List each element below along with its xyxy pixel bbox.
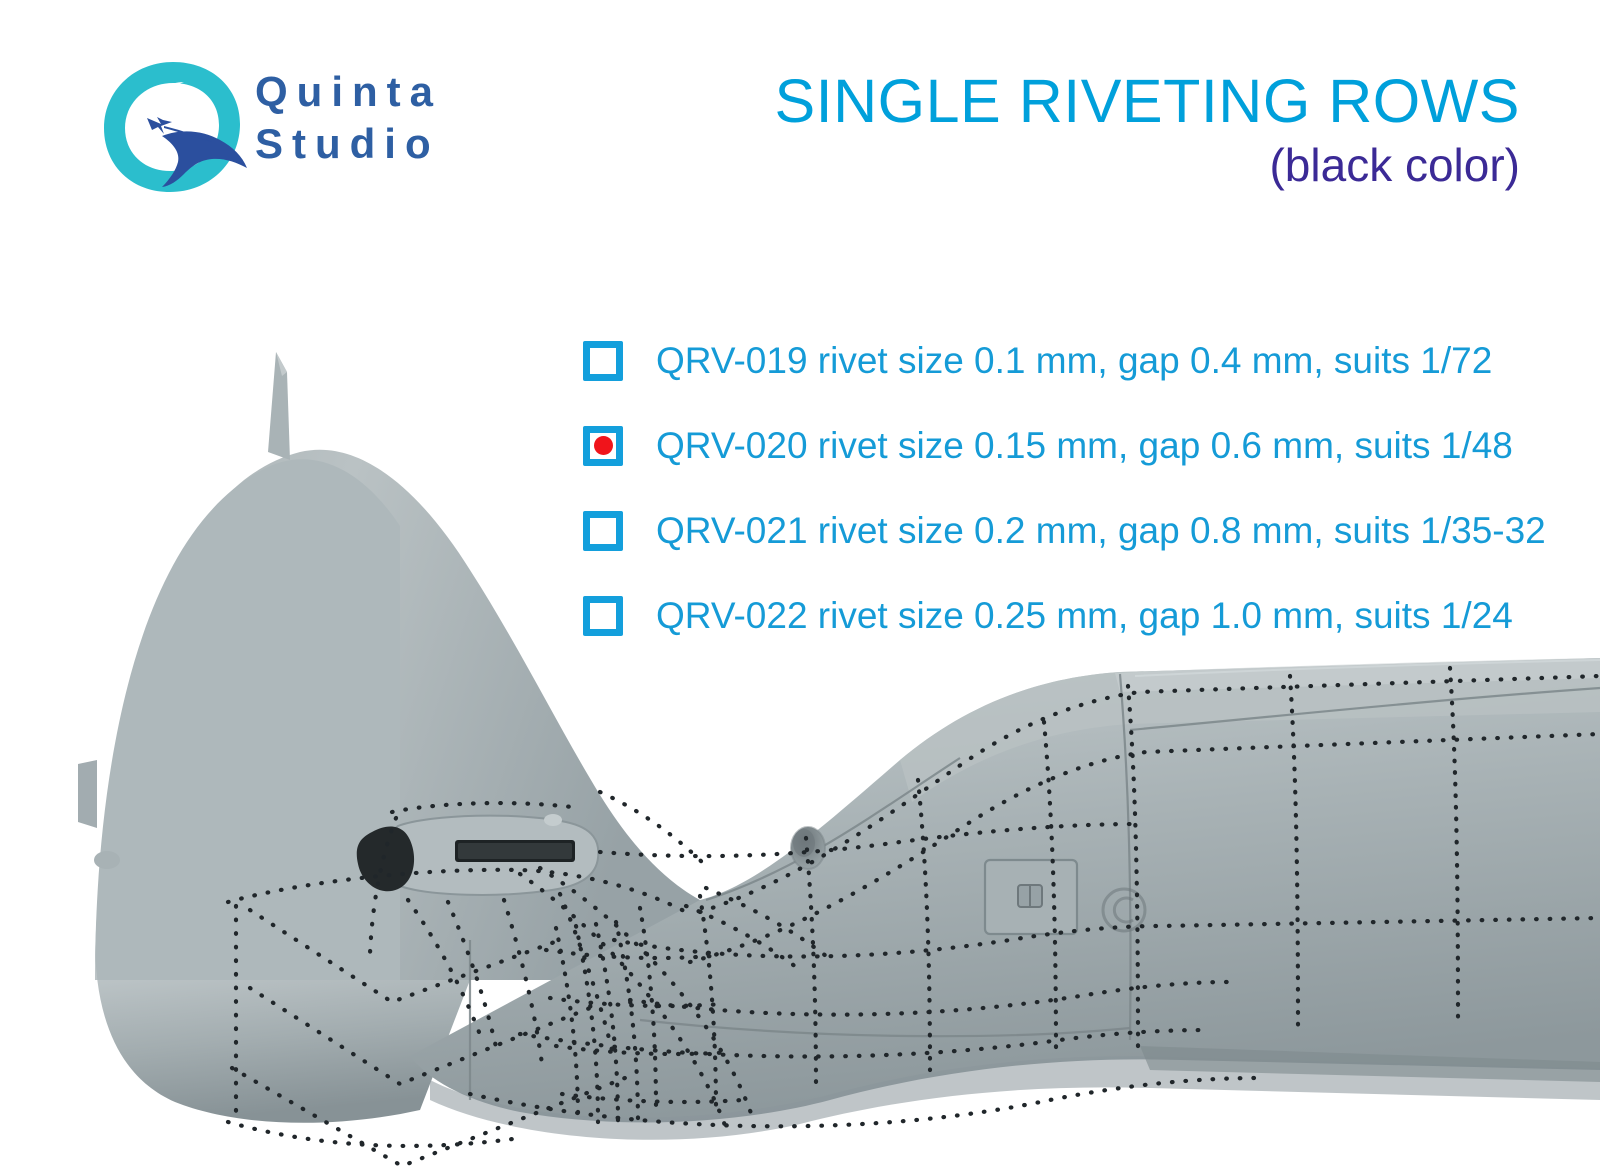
brand-name-line1: Quinta bbox=[255, 66, 555, 118]
product-sheet: Quinta Studio SINGLE RIVETING ROWS (blac… bbox=[0, 0, 1600, 1166]
aircraft-tail-fuselage-model-photo: .rvt { fill:none; stroke:#20262A; stroke… bbox=[0, 340, 1600, 1166]
brand-logo: Quinta Studio bbox=[100, 58, 560, 203]
access-hatch bbox=[985, 860, 1077, 934]
brand-name-line2: Studio bbox=[255, 118, 555, 170]
page-title: SINGLE RIVETING ROWS bbox=[700, 66, 1520, 136]
quinta-q-swoosh-jet-logo bbox=[100, 58, 250, 200]
brand-wordmark: Quinta Studio bbox=[255, 66, 555, 170]
page-subtitle: (black color) bbox=[700, 138, 1520, 192]
